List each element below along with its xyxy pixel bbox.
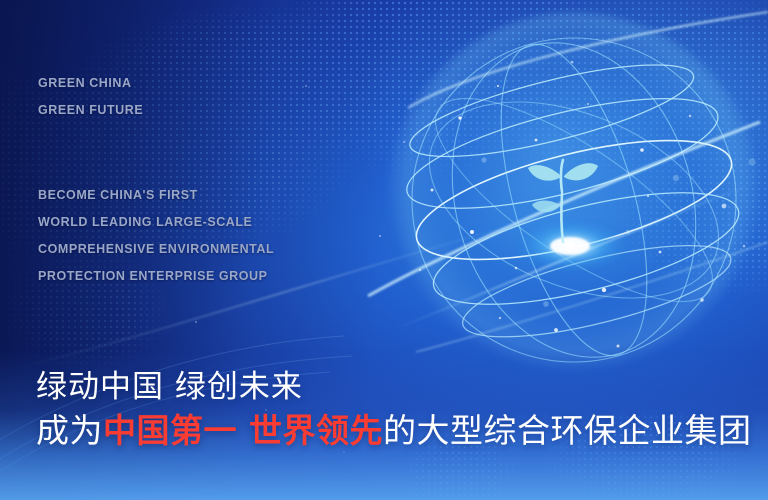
headline-primary: 绿动中国 绿创未来 — [36, 372, 303, 403]
banner-root: GREEN CHINA GREEN FUTURE BECOME CHINA'S … — [0, 0, 768, 500]
headline-secondary: 成为中国第一 世界领先的大型综合环保企业集团 — [36, 414, 752, 447]
headline-highlight: 中国第一 世界领先 — [103, 411, 383, 450]
mission-line-2: WORLD LEADING LARGE-SCALE — [38, 216, 252, 229]
headline-prefix: 成为 — [36, 411, 103, 450]
tagline-green-future: GREEN FUTURE — [38, 104, 143, 117]
mission-line-4: PROTECTION ENTERPRISE GROUP — [38, 270, 267, 283]
mission-line-1: BECOME CHINA'S FIRST — [38, 189, 198, 202]
tagline-green-china: GREEN CHINA — [38, 77, 132, 90]
mission-line-3: COMPREHENSIVE ENVIRONMENTAL — [38, 243, 274, 256]
headline-suffix: 的大型综合环保企业集团 — [383, 411, 752, 450]
